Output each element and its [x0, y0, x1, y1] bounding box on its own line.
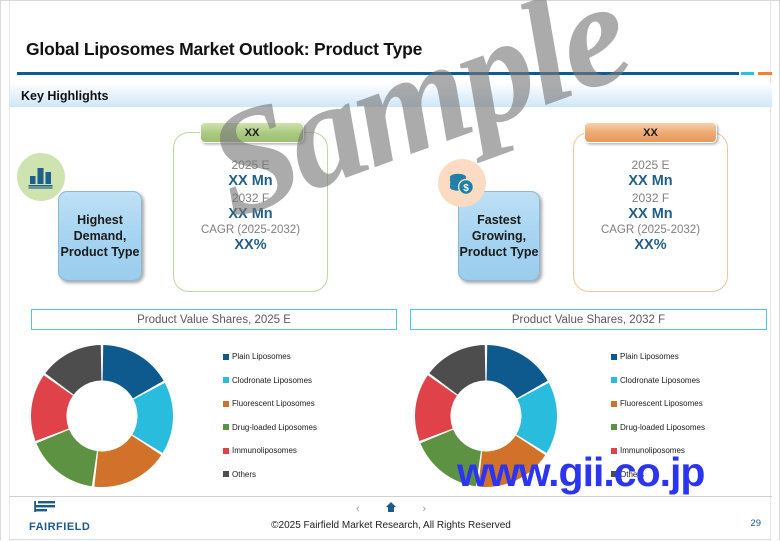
title-underline	[17, 72, 739, 75]
legend-item: Others	[611, 463, 705, 487]
legend-swatch-icon	[223, 471, 229, 477]
legend-label: Others	[620, 470, 644, 479]
money-coins-icon: $	[438, 159, 486, 207]
stat-label-cagr-right: CAGR (2025-2032)	[573, 224, 728, 236]
highlight-stats-left: 2025 E XX Mn 2032 F XX Mn CAGR (2025-203…	[173, 156, 328, 253]
bar-chart-icon	[17, 153, 65, 201]
legend-swatch-icon	[611, 471, 617, 477]
legend-label: Immunoliposomes	[620, 446, 685, 455]
legend-swatch-icon	[223, 424, 229, 430]
legend-label: Drug-loaded Liposomes	[620, 423, 705, 432]
copyright-text: ©2025 Fairfield Market Research, All Rig…	[1, 520, 780, 531]
legend-item: Immunoliposomes	[611, 439, 705, 463]
highlight-stats-right: 2025 E XX Mn 2032 F XX Mn CAGR (2025-203…	[573, 156, 728, 253]
stat-value-cagr-right: XX%	[573, 237, 728, 253]
legend-label: Drug-loaded Liposomes	[232, 423, 317, 432]
stat-label-2025e-left: 2025 E	[173, 158, 328, 172]
legend-item: Others	[223, 463, 317, 487]
stat-value-2025e-right: XX Mn	[573, 173, 728, 189]
legend-label: Others	[232, 470, 256, 479]
legend-swatch-icon	[223, 401, 229, 407]
donut-chart-2032	[413, 343, 559, 489]
legend-item: Drug-loaded Liposomes	[223, 416, 317, 440]
legend-swatch-icon	[611, 401, 617, 407]
legend-label: Immunoliposomes	[232, 446, 297, 455]
highlight-badge-right: XX	[584, 122, 717, 143]
nav-next-icon[interactable]: ›	[422, 503, 426, 515]
slide-left-gutter	[1, 1, 10, 541]
legend-item: Clodronate Liposomes	[611, 369, 705, 393]
legend-swatch-icon	[223, 377, 229, 383]
legend-item: Fluorescent Liposomes	[611, 392, 705, 416]
page-title: Global Liposomes Market Outlook: Product…	[26, 39, 422, 60]
slide-root: Global Liposomes Market Outlook: Product…	[0, 0, 780, 540]
stat-label-2032f-right: 2032 F	[573, 191, 728, 205]
fairfield-logo-text: FAIRFIELD	[29, 521, 90, 533]
stat-value-cagr-left: XX%	[173, 237, 328, 253]
title-accent-orange	[758, 72, 772, 75]
stat-label-2032f-left: 2032 F	[173, 191, 328, 205]
stat-value-2025e-left: XX Mn	[173, 173, 328, 189]
legend-label: Fluorescent Liposomes	[620, 399, 703, 408]
title-accent-cyan	[741, 72, 754, 75]
legend-label: Plain Liposomes	[620, 352, 679, 361]
legend-label: Clodronate Liposomes	[232, 376, 312, 385]
legend-item: Drug-loaded Liposomes	[611, 416, 705, 440]
stat-value-2032f-right: XX Mn	[573, 206, 728, 222]
legend-swatch-icon	[223, 448, 229, 454]
key-highlights-label: Key Highlights	[21, 89, 109, 103]
nav-home-icon[interactable]	[385, 501, 397, 516]
legend-label: Clodronate Liposomes	[620, 376, 700, 385]
nav-prev-icon[interactable]: ‹	[356, 503, 360, 515]
slide-right-gutter	[770, 1, 779, 541]
legend-swatch-icon	[223, 354, 229, 360]
legend-swatch-icon	[611, 377, 617, 383]
chart-title-2025: Product Value Shares, 2025 E	[31, 309, 397, 330]
chart-legend-2025: Plain LiposomesClodronate LiposomesFluor…	[223, 345, 317, 486]
stat-value-2032f-left: XX Mn	[173, 206, 328, 222]
stat-label-cagr-left: CAGR (2025-2032)	[173, 224, 328, 236]
svg-text:$: $	[463, 183, 469, 194]
stat-label-2025e-right: 2025 E	[573, 158, 728, 172]
footer-divider	[10, 496, 772, 497]
legend-label: Fluorescent Liposomes	[232, 399, 315, 408]
legend-swatch-icon	[611, 424, 617, 430]
legend-item: Immunoliposomes	[223, 439, 317, 463]
legend-swatch-icon	[611, 448, 617, 454]
legend-item: Plain Liposomes	[223, 345, 317, 369]
highlight-badge-left: XX	[200, 122, 304, 143]
fairfield-logo: FAIRFIELD	[29, 499, 90, 533]
page-number: 29	[750, 518, 761, 529]
legend-item: Fluorescent Liposomes	[223, 392, 317, 416]
donut-slice	[420, 430, 480, 487]
legend-label: Plain Liposomes	[232, 352, 291, 361]
legend-item: Clodronate Liposomes	[223, 369, 317, 393]
legend-swatch-icon	[611, 354, 617, 360]
highlight-label-left: Highest Demand, Product Type	[58, 191, 142, 281]
flag-mark-icon	[29, 499, 63, 515]
slide-nav[interactable]: ‹ ›	[356, 501, 426, 516]
key-highlights-band	[10, 83, 772, 107]
donut-chart-2025	[29, 343, 175, 489]
donut-slice	[36, 430, 96, 487]
chart-title-2032: Product Value Shares, 2032 F	[410, 309, 767, 330]
legend-item: Plain Liposomes	[611, 345, 705, 369]
chart-legend-2032: Plain LiposomesClodronate LiposomesFluor…	[611, 345, 705, 486]
